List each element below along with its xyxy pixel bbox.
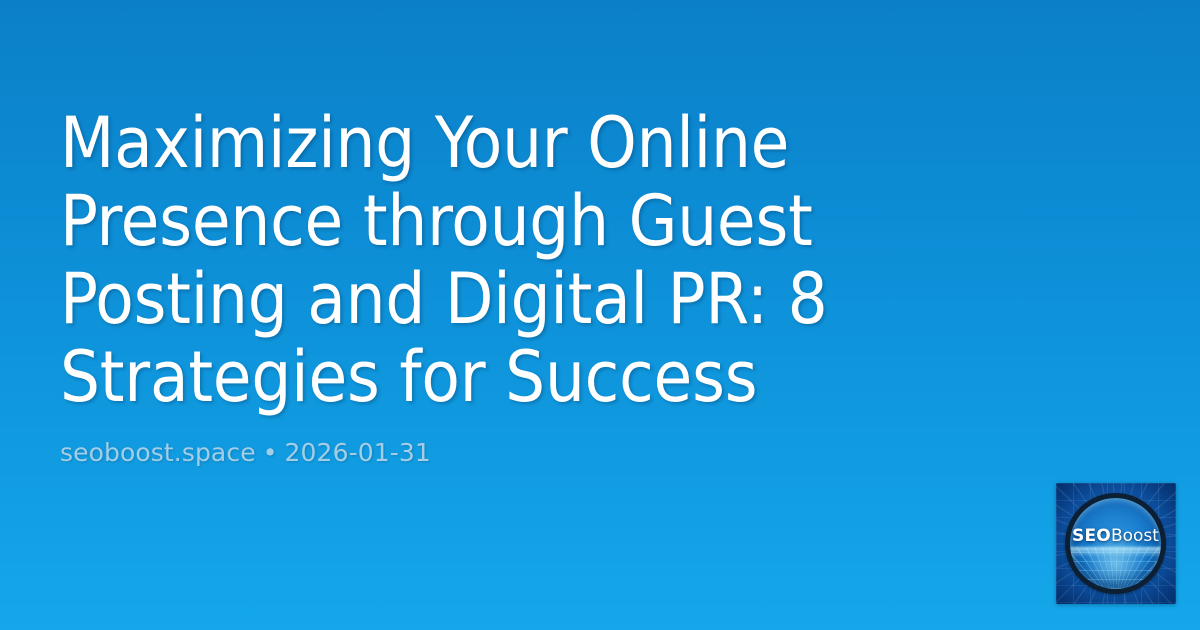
page-title: Maximizing Your Online Presence through …: [60, 104, 980, 416]
lens-horizon-glow: [1070, 547, 1161, 557]
logo-wordmark-boost: Boost: [1111, 526, 1159, 546]
seoboost-logo: SEOBoost: [1056, 483, 1176, 604]
logo-wordmark: SEOBoost: [1070, 527, 1161, 546]
site-domain: seoboost.space: [60, 438, 256, 467]
open-graph-card: Maximizing Your Online Presence through …: [0, 0, 1200, 630]
card-content: Maximizing Your Online Presence through …: [60, 104, 980, 468]
meta-separator: •: [256, 438, 285, 467]
logo-wordmark-seo: SEO: [1072, 526, 1111, 546]
card-meta: seoboost.space•2026-01-31: [60, 438, 980, 468]
magnifier-lens-icon: SEOBoost: [1065, 493, 1166, 594]
publish-date: 2026-01-31: [285, 438, 431, 467]
